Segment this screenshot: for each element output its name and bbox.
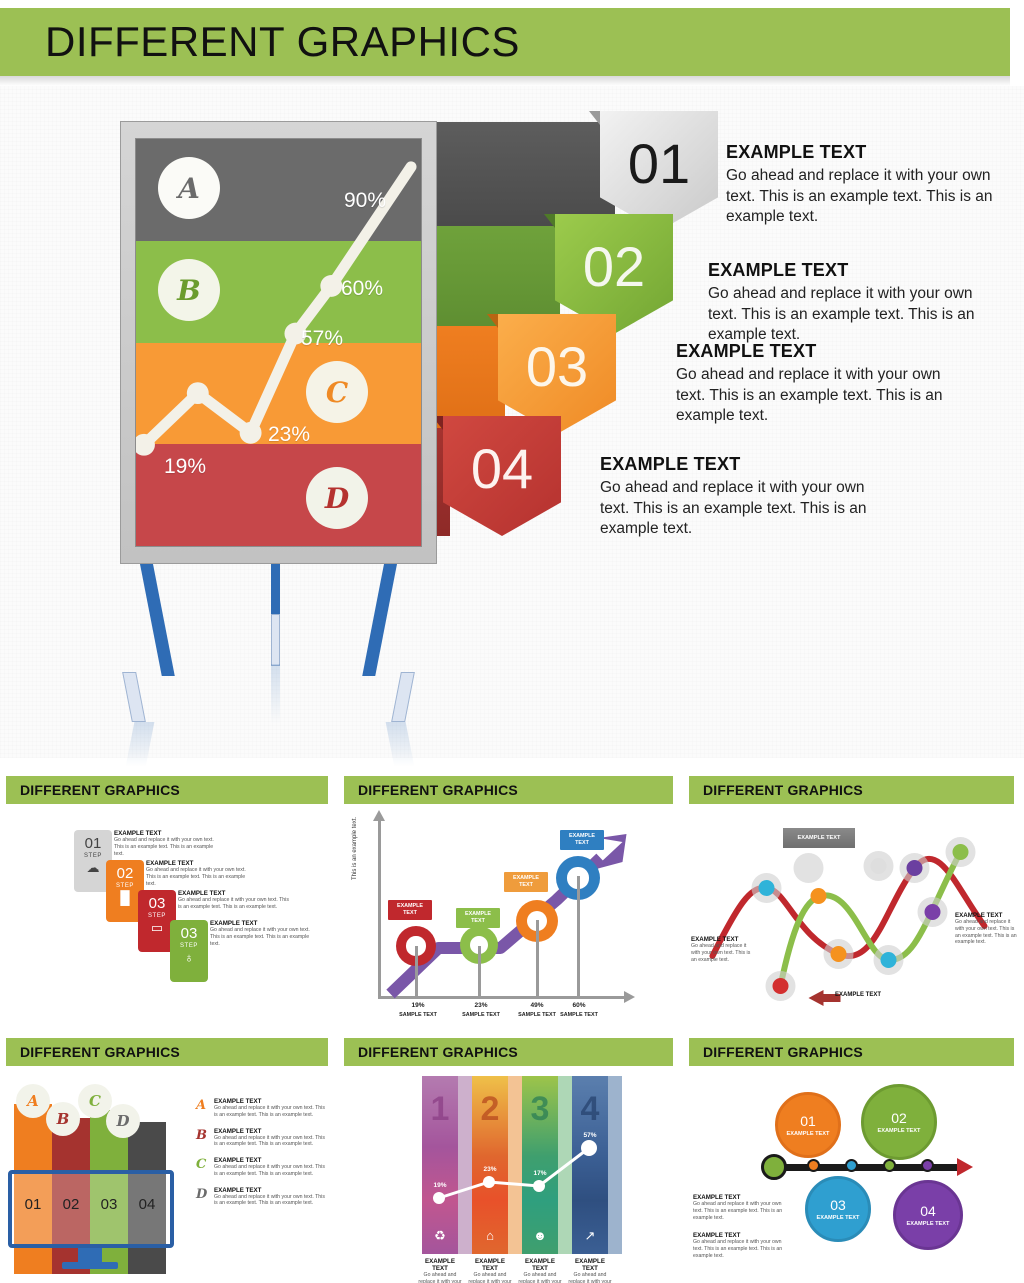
timeline-number-03: 03 [830,1197,846,1213]
textured-percent-4: 57% [572,1132,608,1139]
page-header: DIFFERENT GRAPHICS [0,8,1010,76]
legend-body-b: Go ahead and replace it with your own te… [214,1135,326,1149]
step-3-number: 03 [149,896,166,911]
badge-a: A [158,157,220,219]
timeline-label-01: EXAMPLE TEXT [787,1131,830,1138]
text-block-04-body: Go ahead and replace it with your own te… [600,478,890,540]
recycle-icon: ♻ [422,1228,458,1244]
badge-d: D [306,467,368,529]
legend-title-d: EXAMPLE TEXT [214,1187,326,1194]
stem-3 [536,920,539,998]
thumbnail-2-header: DIFFERENT GRAPHICS [344,776,673,804]
easel-reflection [126,722,155,767]
gear-callout-4: EXAMPLE TEXT [560,830,604,850]
step-4-body: Go ahead and replace it with your own te… [210,927,316,947]
gear-callout-1: EXAMPLE TEXT [388,900,432,920]
easel-chart: A B C D 90% 60% 57% 23% 19% [120,121,437,564]
step-card-4[interactable]: 03 STEP ♁ [170,920,208,982]
text-block-02-title: EXAMPLE TEXT [708,260,998,281]
monitor-stand [78,1248,102,1262]
timeline-text-body-1: Go ahead and replace it with your own te… [693,1201,785,1221]
step-4-title: EXAMPLE TEXT [210,920,316,927]
bar-chart-icon: █ [120,891,129,904]
textured-number-4: 4 [572,1090,608,1129]
page-title: DIFFERENT GRAPHICS [0,18,520,66]
textured-title-2: EXAMPLE TEXT [468,1258,512,1272]
easel-leg-tip-left [122,672,146,722]
timeline-circle-04[interactable]: 04 EXAMPLE TEXT [893,1180,963,1250]
textured-percent-3: 17% [522,1170,558,1177]
step-2-label: STEP [116,883,134,889]
wave-right-title: EXAMPLE TEXT [955,912,1017,919]
thumbnail-2-body: This is an example text. EXAMPLE TEXT EX… [338,808,683,1028]
ribbon-tab-01[interactable]: 01 [600,111,718,231]
step-4-label: STEP [180,943,198,949]
wave-center-label: EXAMPLE TEXT [783,828,855,848]
timeline-circle-01[interactable]: 01 EXAMPLE TEXT [775,1092,841,1158]
textured-column-3-side [558,1076,572,1254]
badge-a-letter: A [178,172,200,205]
legend-body-c: Go ahead and replace it with your own te… [214,1164,326,1178]
label-60: 60% [341,277,383,301]
thumbnail-1-title: DIFFERENT GRAPHICS [6,782,180,798]
badge-c-letter: C [326,376,348,409]
runner-icon: ♁ [184,951,194,964]
easel-leg-left [140,564,175,676]
easel-leg-right [362,564,397,676]
textured-body-3: Go ahead and replace it with your own te… [518,1272,562,1283]
step-3-body: Go ahead and replace it with your own te… [178,897,292,911]
thumbnail-5-body: 1 19% ♻ 2 23% ⌂ 3 17% ☻ 4 57% ↗ [338,1070,683,1283]
ribbon-number-01: 01 [628,136,690,192]
timeline-number-01: 01 [800,1113,816,1129]
thumbnail-6-title: DIFFERENT GRAPHICS [689,1044,863,1060]
gear-tick-label-4: SAMPLE TEXT [557,1012,601,1018]
wave-left-title: EXAMPLE TEXT [691,936,753,943]
step-2-number: 02 [117,866,134,881]
badge-c: C [306,361,368,423]
textured-percent-2: 23% [472,1166,508,1173]
thumbnail-gears-growth[interactable]: DIFFERENT GRAPHICS This is an example te… [338,766,683,1028]
header-shadow [0,76,1010,86]
timeline-text-title-1: EXAMPLE TEXT [693,1194,785,1201]
thumbnail-timeline-circles[interactable]: DIFFERENT GRAPHICS 01 EXAMPLE TEXT 02 EX… [683,1028,1024,1283]
textured-number-3: 3 [522,1090,558,1129]
step-1-title: EXAMPLE TEXT [114,830,218,837]
monitor-number-2: 02 [52,1196,90,1213]
badge-b: B [158,259,220,321]
gear-tick-label-1: SAMPLE TEXT [396,1012,440,1018]
circle-letter-d: D [106,1104,140,1138]
timeline-label-02: EXAMPLE TEXT [878,1128,921,1135]
gear-tick-value-2: 23% [459,1002,503,1009]
timeline-circle-03[interactable]: 03 EXAMPLE TEXT [805,1176,871,1242]
textured-body-2: Go ahead and replace it with your own te… [468,1272,512,1283]
cloud-icon: ☁ [87,861,100,874]
legend-body-d: Go ahead and replace it with your own te… [214,1194,326,1208]
label-23: 23% [268,423,310,447]
textured-body-4: Go ahead and replace it with your own te… [568,1272,612,1283]
legend-letter-c: C [196,1157,208,1178]
timeline-number-02: 02 [891,1110,907,1126]
thumbnail-3-body: EXAMPLE TEXT EXAMPLE TEXT EXAMPLE TEXT G… [683,808,1024,1028]
textured-column-2-side [508,1076,522,1254]
monitor-base [62,1262,118,1269]
gear-tick-label-2: SAMPLE TEXT [459,1012,503,1018]
timeline-text-body-2: Go ahead and replace it with your own te… [693,1239,785,1259]
timeline-arrowhead [957,1158,973,1176]
label-90: 90% [344,189,386,213]
legend-title-b: EXAMPLE TEXT [214,1128,326,1135]
textured-body-1: Go ahead and replace it with your own te… [418,1272,462,1283]
text-block-02: EXAMPLE TEXT Go ahead and replace it wit… [708,260,998,346]
bank-icon: ⌂ [472,1228,508,1243]
thumbnail-3-title: DIFFERENT GRAPHICS [689,782,863,798]
legend-title-c: EXAMPLE TEXT [214,1157,326,1164]
people-icon: ☻ [522,1228,558,1243]
text-block-04: EXAMPLE TEXT Go ahead and replace it wit… [600,454,890,540]
text-block-03-title: EXAMPLE TEXT [676,341,966,362]
legend-body-a: Go ahead and replace it with your own te… [214,1105,326,1119]
textured-column-4-side [608,1076,622,1254]
gear-callout-3: EXAMPLE TEXT [504,872,548,892]
label-19: 19% [164,455,206,479]
badge-b-letter: B [177,274,201,307]
growth-icon: ↗ [572,1228,608,1244]
ribbon-number-04: 04 [471,441,533,497]
thumbnail-6-body: 01 EXAMPLE TEXT 02 EXAMPLE TEXT 03 EXAMP… [683,1070,1024,1283]
timeline-label-04: EXAMPLE TEXT [907,1221,950,1228]
thumbnail-3-header: DIFFERENT GRAPHICS [689,776,1014,804]
timeline-dot-1 [807,1159,820,1172]
stem-1 [415,946,418,998]
thumbnail-1-body: 01 STEP ☁ EXAMPLE TEXT Go ahead and repl… [0,808,338,1028]
ribbon-number-03: 03 [526,339,588,395]
legend-letter-b: B [196,1128,208,1149]
ribbon-number-02: 02 [583,239,645,295]
thumbnail-textured-columns[interactable]: DIFFERENT GRAPHICS 1 19% ♻ 2 23% ⌂ 3 17%… [338,1028,683,1283]
easel-reflection-center [271,664,280,724]
timeline-text-title-2: EXAMPLE TEXT [693,1232,785,1239]
monitor-number-4: 04 [128,1196,166,1213]
board-frame: A B C D 90% 60% 57% 23% 19% [120,121,437,564]
textured-percent-1: 19% [422,1182,458,1189]
step-1-body: Go ahead and replace it with your own te… [114,837,218,857]
hero-section: 01 02 03 04 [0,86,1024,758]
text-block-01: EXAMPLE TEXT Go ahead and replace it wit… [726,142,1016,228]
step-4-number: 03 [181,926,198,941]
circle-letter-a: A [16,1084,50,1118]
timeline-dot-2 [845,1159,858,1172]
timeline-number-04: 04 [920,1203,936,1219]
timeline-circle-02[interactable]: 02 EXAMPLE TEXT [861,1084,937,1160]
gear-callout-2: EXAMPLE TEXT [456,908,500,928]
thumbnail-5-title: DIFFERENT GRAPHICS [344,1044,518,1060]
thumbnail-2-title: DIFFERENT GRAPHICS [344,782,518,798]
timeline-dot-4 [921,1159,934,1172]
gear-tick-value-3: 49% [515,1002,559,1009]
gear-tick-label-3: SAMPLE TEXT [515,1012,559,1018]
thumbnail-4-header: DIFFERENT GRAPHICS [6,1038,328,1066]
easel-legs [120,564,437,764]
textured-column-1-side [458,1076,472,1254]
text-block-04-title: EXAMPLE TEXT [600,454,890,475]
ribbon-tab-04[interactable]: 04 [443,416,561,536]
textured-number-1: 1 [422,1090,458,1129]
badge-d-letter: D [325,482,349,515]
legend-title-a: EXAMPLE TEXT [214,1098,326,1105]
monitor-number-1: 01 [14,1196,52,1213]
easel-reflection-right [386,722,415,767]
easel-leg-tip-center [271,614,280,666]
step-1-label: STEP [84,853,102,859]
monitor-number-3: 03 [90,1196,128,1213]
text-block-01-body: Go ahead and replace it with your own te… [726,166,1016,228]
text-block-03-body: Go ahead and replace it with your own te… [676,365,966,427]
thumbnail-monitor-columns[interactable]: DIFFERENT GRAPHICS A B C D 01 02 [0,1028,338,1283]
legend-letter-a: A [196,1098,208,1119]
legend-letter-d: D [196,1187,208,1208]
step-3-title: EXAMPLE TEXT [178,890,292,897]
timeline-dot-3 [883,1159,896,1172]
thumbnail-6-header: DIFFERENT GRAPHICS [689,1038,1014,1066]
step-2-body: Go ahead and replace it with your own te… [146,867,256,887]
thumbnail-4-title: DIFFERENT GRAPHICS [6,1044,180,1060]
label-57: 57% [301,327,343,351]
step-1-number: 01 [85,836,102,851]
wave-right-body: Go ahead and replace it with your own te… [955,919,1017,946]
gear-tick-value-4: 60% [557,1002,601,1009]
stem-4 [577,876,580,998]
textured-title-1: EXAMPLE TEXT [418,1258,462,1272]
stem-2 [478,946,481,998]
textured-title-4: EXAMPLE TEXT [568,1258,612,1272]
step-3-label: STEP [148,913,166,919]
easel-leg-center [271,564,280,616]
text-block-02-body: Go ahead and replace it with your own te… [708,284,998,346]
wave-arrow-label: EXAMPLE TEXT [835,992,881,998]
thumbnail-grid: DIFFERENT GRAPHICS 01 STEP ☁ EXAMPLE TEX… [0,766,1024,1283]
text-block-01-title: EXAMPLE TEXT [726,142,1016,163]
gear-tick-value-1: 19% [396,1002,440,1009]
thumbnail-dual-wave[interactable]: DIFFERENT GRAPHICS [683,766,1024,1028]
step-2-title: EXAMPLE TEXT [146,860,256,867]
easel-leg-tip-right [391,672,415,722]
timeline-label-03: EXAMPLE TEXT [817,1215,860,1222]
thumbnail-1-header: DIFFERENT GRAPHICS [6,776,328,804]
thumbnail-4-body: A B C D 01 02 03 04 A [0,1070,338,1283]
wave-left-body: Go ahead and replace it with your own te… [691,943,753,963]
text-block-03: EXAMPLE TEXT Go ahead and replace it wit… [676,341,966,427]
timeline-start-dot [761,1154,787,1180]
textured-number-2: 2 [472,1090,508,1129]
thumbnail-steps-staircase[interactable]: DIFFERENT GRAPHICS 01 STEP ☁ EXAMPLE TEX… [0,766,338,1028]
monitor-icon: ▭ [151,921,163,934]
textured-title-3: EXAMPLE TEXT [518,1258,562,1272]
chart-area: A B C D 90% 60% 57% 23% 19% [135,138,422,547]
thumbnail-5-header: DIFFERENT GRAPHICS [344,1038,673,1066]
circle-letter-b: B [46,1102,80,1136]
